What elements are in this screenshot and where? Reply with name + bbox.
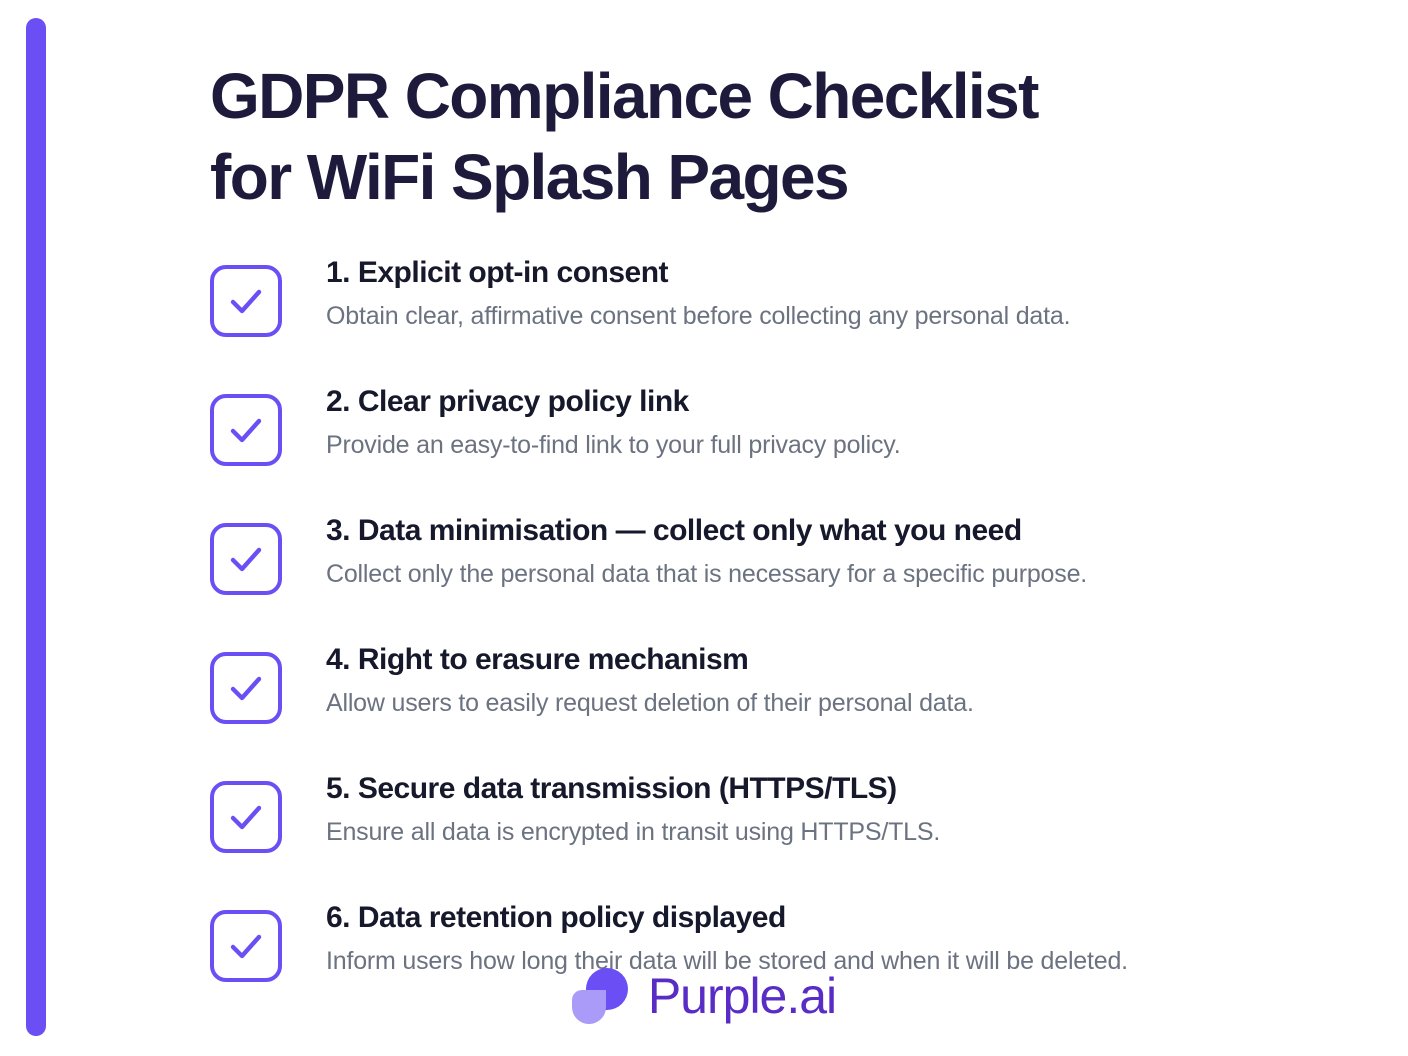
gdpr-checklist: 1. Explicit opt-in consent Obtain clear,…: [210, 255, 1310, 982]
infographic-canvas: GDPR Compliance Checklist for WiFi Splas…: [0, 0, 1408, 1056]
left-accent-bar: [26, 18, 46, 1036]
list-item-description: Ensure all data is encrypted in transit …: [326, 817, 1310, 848]
list-item-text: 5. Secure data transmission (HTTPS/TLS) …: [326, 771, 1310, 848]
list-item[interactable]: 4. Right to erasure mechanism Allow user…: [210, 642, 1310, 724]
list-item-heading: 6. Data retention policy displayed: [326, 900, 1310, 936]
page-title-line-2: for WiFi Splash Pages: [210, 137, 1250, 218]
list-item-description: Provide an easy-to-find link to your ful…: [326, 430, 1310, 461]
logo-shape-light: [572, 990, 606, 1024]
checkmark-icon: [225, 280, 267, 322]
list-item-heading: 5. Secure data transmission (HTTPS/TLS): [326, 771, 1310, 807]
list-item-heading: 1. Explicit opt-in consent: [326, 255, 1310, 291]
list-item-text: 6. Data retention policy displayed Infor…: [326, 900, 1310, 977]
checkmark-icon: [225, 925, 267, 967]
list-item[interactable]: 2. Clear privacy policy link Provide an …: [210, 384, 1310, 466]
list-item-heading: 2. Clear privacy policy link: [326, 384, 1310, 420]
checkmark-icon: [225, 538, 267, 580]
checkbox-checked-4[interactable]: [210, 652, 282, 724]
list-item-text: 3. Data minimisation — collect only what…: [326, 513, 1310, 590]
purple-ai-logo-icon: [572, 968, 628, 1024]
checkmark-icon: [225, 409, 267, 451]
page-title-line-1: GDPR Compliance Checklist: [210, 56, 1250, 137]
brand-wordmark: Purple.ai: [648, 971, 836, 1021]
list-item-description: Allow users to easily request deletion o…: [326, 688, 1310, 719]
list-item-text: 1. Explicit opt-in consent Obtain clear,…: [326, 255, 1310, 332]
list-item-description: Collect only the personal data that is n…: [326, 559, 1310, 590]
checkbox-checked-2[interactable]: [210, 394, 282, 466]
checkmark-icon: [225, 796, 267, 838]
list-item-heading: 4. Right to erasure mechanism: [326, 642, 1310, 678]
list-item-text: 2. Clear privacy policy link Provide an …: [326, 384, 1310, 461]
list-item-description: Obtain clear, affirmative consent before…: [326, 301, 1310, 332]
checkbox-checked-5[interactable]: [210, 781, 282, 853]
page-title: GDPR Compliance Checklist for WiFi Splas…: [210, 0, 1250, 217]
list-item-heading: 3. Data minimisation — collect only what…: [326, 513, 1310, 549]
list-item-text: 4. Right to erasure mechanism Allow user…: [326, 642, 1310, 719]
list-item[interactable]: 3. Data minimisation — collect only what…: [210, 513, 1310, 595]
checkbox-checked-3[interactable]: [210, 523, 282, 595]
list-item[interactable]: 5. Secure data transmission (HTTPS/TLS) …: [210, 771, 1310, 853]
checkbox-checked-1[interactable]: [210, 265, 282, 337]
brand-footer: Purple.ai: [0, 968, 1408, 1024]
content-column: GDPR Compliance Checklist for WiFi Splas…: [210, 0, 1310, 1056]
list-item[interactable]: 1. Explicit opt-in consent Obtain clear,…: [210, 255, 1310, 337]
checkmark-icon: [225, 667, 267, 709]
